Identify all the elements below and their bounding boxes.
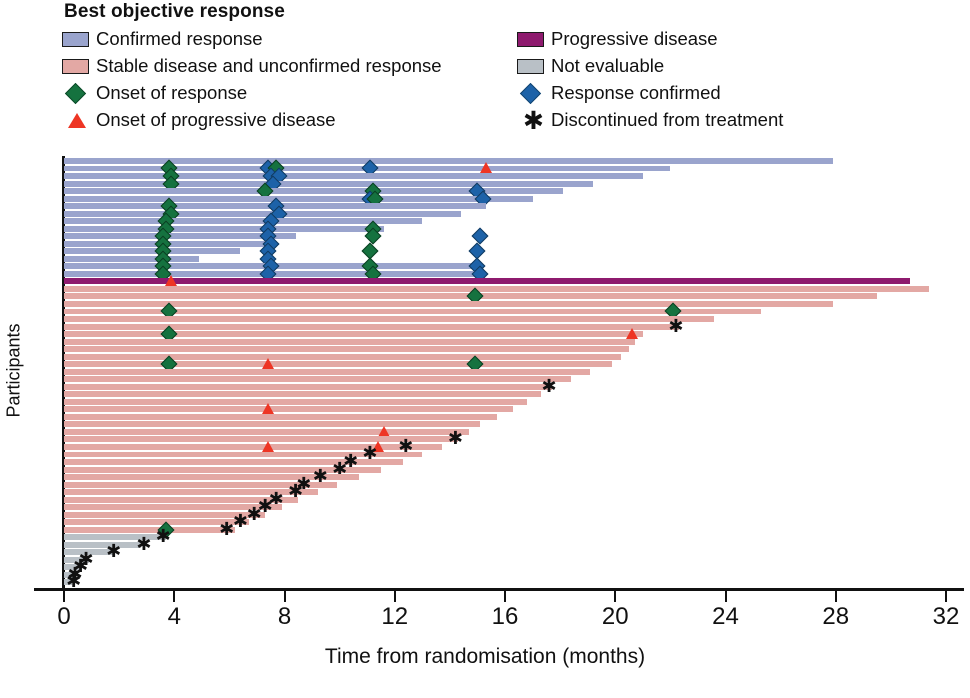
participant-bar[interactable]: [64, 256, 199, 262]
marker-onset-progressive-disease[interactable]: [262, 441, 274, 452]
swimmer-plot: ✱✱✱✱✱✱✱✱✱✱✱✱✱✱✱✱✱✱✱✱✱✱ 048121620242832 T…: [0, 0, 970, 698]
participant-bar[interactable]: [64, 286, 929, 292]
plot-area: ✱✱✱✱✱✱✱✱✱✱✱✱✱✱✱✱✱✱✱✱✱✱: [64, 158, 946, 588]
x-tick-28: [835, 591, 837, 602]
marker-discontinued[interactable]: ✱: [156, 532, 171, 542]
participant-bar[interactable]: [64, 399, 527, 405]
participant-bar[interactable]: [64, 158, 833, 164]
marker-onset-progressive-disease[interactable]: [480, 162, 492, 173]
x-tick-8: [284, 591, 286, 602]
participant-bar[interactable]: [64, 354, 621, 360]
x-tick-32: [945, 591, 947, 602]
participant-bar[interactable]: [64, 369, 590, 375]
participant-bar[interactable]: [64, 211, 461, 217]
marker-discontinued[interactable]: ✱: [219, 525, 234, 535]
participant-bar[interactable]: [64, 316, 714, 322]
marker-discontinued[interactable]: ✱: [136, 540, 151, 550]
marker-discontinued[interactable]: ✱: [313, 472, 328, 482]
participant-bar[interactable]: [64, 384, 552, 390]
marker-discontinued[interactable]: ✱: [332, 464, 347, 474]
participant-bar[interactable]: [64, 339, 635, 345]
x-tick-label: 20: [602, 603, 629, 631]
x-tick-12: [394, 591, 396, 602]
participant-bar[interactable]: [64, 406, 513, 412]
x-tick-20: [614, 591, 616, 602]
marker-discontinued[interactable]: ✱: [233, 517, 248, 527]
marker-discontinued[interactable]: ✱: [106, 547, 121, 557]
participant-bar[interactable]: [64, 444, 442, 450]
participant-bar[interactable]: [64, 331, 643, 337]
x-tick-0: [63, 591, 65, 602]
x-tick-label: 12: [381, 603, 408, 631]
x-tick-label: 4: [168, 603, 181, 631]
x-tick-label: 28: [822, 603, 849, 631]
x-tick-16: [504, 591, 506, 602]
marker-onset-progressive-disease[interactable]: [262, 403, 274, 414]
y-axis-title: Participants: [4, 271, 25, 471]
participant-bar[interactable]: [64, 527, 235, 533]
participant-bar[interactable]: [64, 301, 833, 307]
participant-bar[interactable]: [64, 429, 469, 435]
participant-bar[interactable]: [64, 324, 679, 330]
marker-onset-progressive-disease[interactable]: [165, 275, 177, 286]
participant-bar[interactable]: [64, 248, 240, 254]
marker-response-confirmed[interactable]: [472, 228, 489, 245]
marker-discontinued[interactable]: ✱: [448, 434, 463, 444]
x-tick-label: 8: [278, 603, 291, 631]
participant-bar[interactable]: [64, 278, 910, 284]
participant-bar[interactable]: [64, 361, 612, 367]
participant-bar[interactable]: [64, 188, 563, 194]
participant-bar[interactable]: [64, 181, 593, 187]
participant-bar[interactable]: [64, 376, 571, 382]
marker-discontinued[interactable]: ✱: [247, 509, 262, 519]
marker-onset-progressive-disease[interactable]: [626, 328, 638, 339]
participant-bar[interactable]: [64, 391, 541, 397]
marker-onset-progressive-disease[interactable]: [262, 358, 274, 369]
x-tick-24: [725, 591, 727, 602]
marker-discontinued[interactable]: ✱: [398, 442, 413, 452]
x-axis-title: Time from randomisation (months): [0, 645, 970, 669]
participant-bar[interactable]: [64, 173, 643, 179]
participant-bar[interactable]: [64, 414, 497, 420]
marker-onset-progressive-disease[interactable]: [378, 426, 390, 437]
x-tick-label: 0: [57, 603, 70, 631]
participant-bar[interactable]: [64, 196, 533, 202]
marker-discontinued[interactable]: ✱: [668, 321, 683, 331]
marker-discontinued[interactable]: ✱: [288, 487, 303, 497]
participant-bar[interactable]: [64, 421, 480, 427]
participant-bar[interactable]: [64, 226, 384, 232]
marker-discontinued[interactable]: ✱: [542, 382, 557, 392]
marker-discontinued[interactable]: ✱: [66, 577, 81, 587]
x-tick-4: [173, 591, 175, 602]
participant-bar[interactable]: [64, 346, 629, 352]
participant-bar[interactable]: [64, 542, 141, 548]
marker-discontinued[interactable]: ✱: [362, 449, 377, 459]
x-tick-label: 32: [933, 603, 960, 631]
x-tick-label: 24: [712, 603, 739, 631]
x-tick-label: 16: [492, 603, 519, 631]
